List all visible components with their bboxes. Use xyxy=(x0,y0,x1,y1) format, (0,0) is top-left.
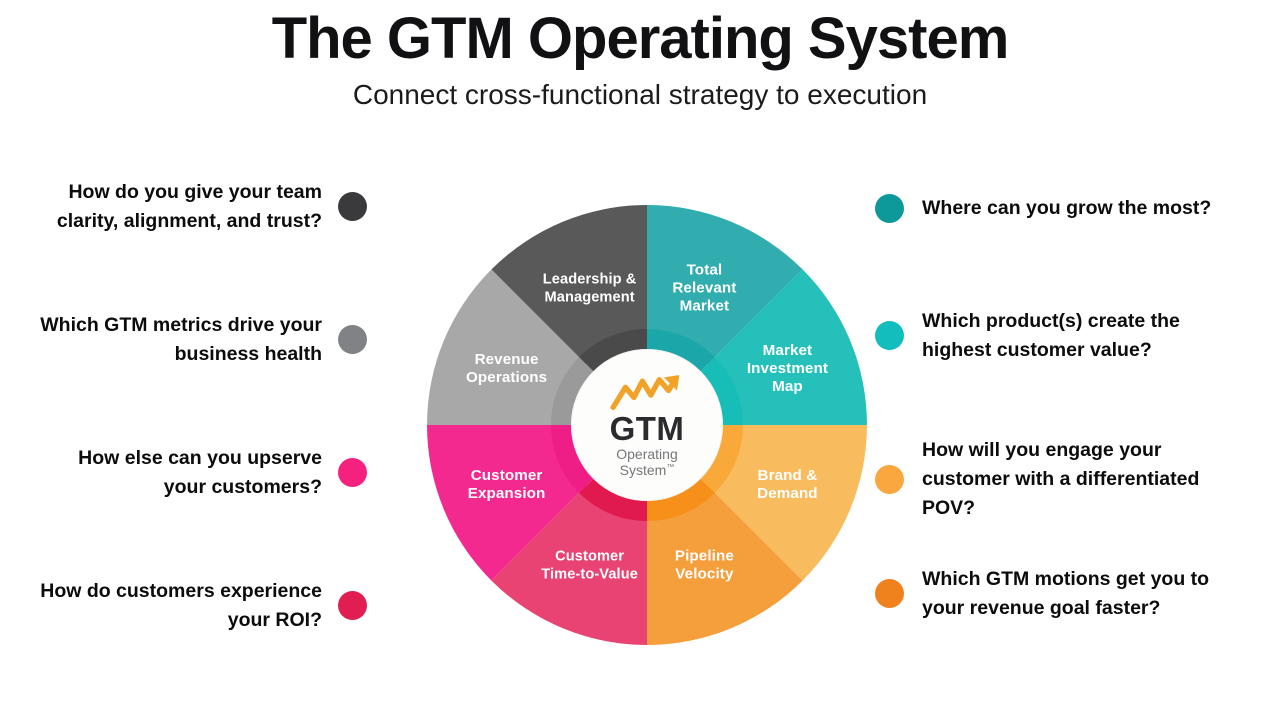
wheel-label-line: Pipeline xyxy=(675,548,734,565)
wheel-label-line: Velocity xyxy=(675,566,734,583)
question-text: Which GTM motions get you to your revenu… xyxy=(904,565,1212,623)
dot-customer-time-to-value xyxy=(338,591,367,620)
logo-brand: GTM xyxy=(610,412,685,445)
gtm-operating-system-wheel: TotalRelevantMarketMarketInvestmentMapBr… xyxy=(427,205,867,645)
question-item: Which GTM metrics drive your business he… xyxy=(22,311,367,369)
logo-subtext: Operating System™ xyxy=(616,447,677,478)
question-item: Which GTM motions get you to your revenu… xyxy=(875,565,1235,623)
dot-revenue-operations xyxy=(338,325,367,354)
question-text: Which product(s) create the highest cust… xyxy=(904,307,1212,365)
dot-leadership-management xyxy=(338,192,367,221)
wheel-center-logo: GTM Operating System™ xyxy=(572,350,722,500)
wheel-label-line: Customer xyxy=(471,467,543,484)
wheel-label-pipeline-velocity: PipelineVelocity xyxy=(675,548,734,583)
dot-total-relevant-market xyxy=(875,194,904,223)
question-text: How do customers experience your ROI? xyxy=(32,577,338,635)
header: The GTM Operating System Connect cross-f… xyxy=(0,0,1280,111)
logo-subtext-line1: Operating xyxy=(616,446,677,462)
wheel-label-line: Operations xyxy=(466,369,547,386)
dot-pipeline-velocity xyxy=(875,579,904,608)
question-item: How do you give your team clarity, align… xyxy=(22,178,367,236)
wheel-label-brand-demand: Brand &Demand xyxy=(757,467,818,502)
upward-zigzag-arrow-icon xyxy=(608,372,686,412)
page-title: The GTM Operating System xyxy=(0,9,1280,70)
wheel-label-revenue-operations: RevenueOperations xyxy=(466,351,547,386)
question-item: How do customers experience your ROI? xyxy=(22,577,367,635)
wheel-label-line: Market xyxy=(680,297,730,314)
wheel-label-line: Customer xyxy=(555,549,624,565)
wheel-label-line: Total xyxy=(687,261,723,278)
dot-brand-demand xyxy=(875,465,904,494)
question-item: Which product(s) create the highest cust… xyxy=(875,307,1235,365)
question-item: How will you engage your customer with a… xyxy=(875,436,1235,523)
question-text: Which GTM metrics drive your business he… xyxy=(32,311,338,369)
question-item: Where can you grow the most? xyxy=(875,194,1235,223)
wheel-label-line: Relevant xyxy=(672,279,736,296)
wheel-label-line: Revenue xyxy=(475,351,539,368)
wheel-label-line: Demand xyxy=(757,485,818,502)
wheel-label-line: Leadership & xyxy=(543,271,637,287)
trademark-symbol: ™ xyxy=(666,462,674,471)
wheel-label-line: Management xyxy=(544,289,634,305)
dot-market-investment-map xyxy=(875,321,904,350)
page-subtitle: Connect cross-functional strategy to exe… xyxy=(0,80,1280,111)
dot-customer-expansion xyxy=(338,458,367,487)
question-text: Where can you grow the most? xyxy=(904,194,1211,223)
wheel-label-line: Market xyxy=(763,342,813,359)
wheel-label-line: Map xyxy=(772,378,803,395)
wheel-label-line: Investment xyxy=(747,360,828,377)
wheel-label-customer-expansion: CustomerExpansion xyxy=(468,467,546,502)
slide-canvas: The GTM Operating System Connect cross-f… xyxy=(0,0,1280,720)
wheel-label-line: Expansion xyxy=(468,485,546,502)
question-text: How will you engage your customer with a… xyxy=(904,436,1212,523)
wheel-label-line: Time-to-Value xyxy=(541,567,638,583)
wheel-label-line: Brand & xyxy=(758,467,818,484)
logo-subtext-line2: System xyxy=(620,462,667,478)
question-text: How else can you upserve your customers? xyxy=(32,444,338,502)
question-item: How else can you upserve your customers? xyxy=(22,444,367,502)
question-text: How do you give your team clarity, align… xyxy=(32,178,338,236)
